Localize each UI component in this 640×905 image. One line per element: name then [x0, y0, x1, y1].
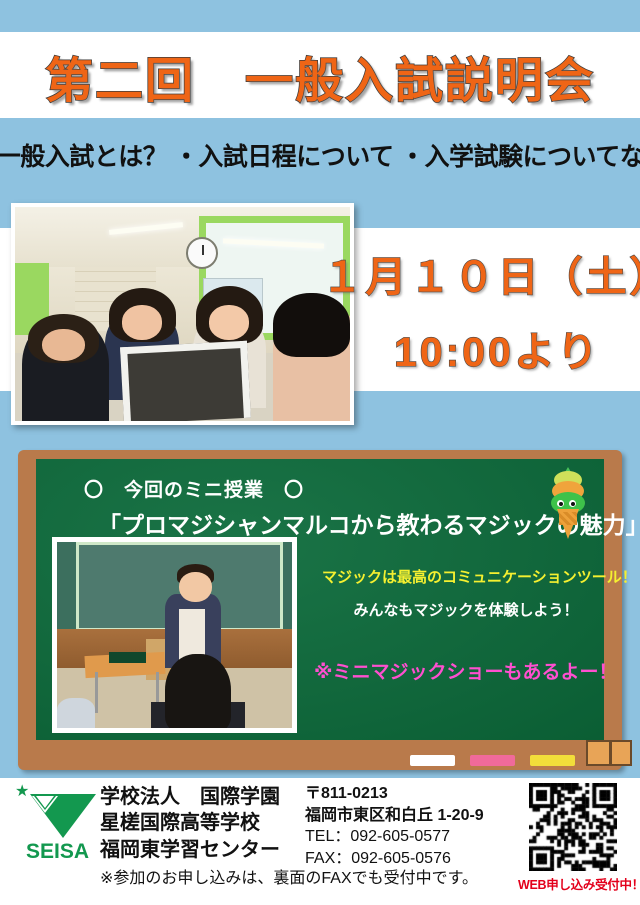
application-note: ※参加のお申し込みは、裏面のFAXでも受付中です。	[100, 864, 478, 888]
chalkboard-message-yellow: マジックは最高のコミュニケーションツール！	[322, 566, 610, 587]
footer: ★ SEISA 学校法人 国際学園 星槎国際高等学校 福岡東学習センター 〒81…	[0, 778, 640, 905]
logo-wordmark: SEISA	[26, 840, 89, 864]
chalkboard-message-pink: ※ミニマジックショーもあるよー！	[314, 657, 610, 684]
seisa-logo: ★ SEISA	[10, 784, 96, 866]
telephone-number: TEL：092-605-0577	[305, 826, 484, 848]
subtitle-bar: ・一般入試とは？ ・入試日程について ・入学試験についてなど	[0, 126, 640, 184]
org-line-3: 福岡東学習センター	[100, 837, 280, 863]
chalkboard-surface: 〇 今回のミニ授業 〇 「プロマジシャンマルコから教わるマジックの魅力」	[36, 459, 604, 740]
event-time: 10:00より	[394, 318, 601, 378]
star-icon: ★	[15, 784, 29, 800]
qr-label: WEB申し込み受付中！	[518, 874, 628, 893]
chalkboard: 〇 今回のミニ授業 〇 「プロマジシャンマルコから教わるマジックの魅力」	[18, 450, 622, 770]
organization-name: 学校法人 国際学園 星槎国際高等学校 福岡東学習センター	[100, 784, 280, 863]
qr-code[interactable]	[529, 783, 617, 871]
seisa-mascot-icon	[546, 467, 590, 539]
street-address: 福岡市東区和白丘 1-20-9	[305, 805, 484, 827]
page-title-text: 第二回 一般入試説明会	[45, 41, 595, 111]
chalk-pink-icon	[470, 755, 515, 766]
contact-info: 〒811-0213 福岡市東区和白丘 1-20-9 TEL：092-605-05…	[305, 783, 484, 869]
page-title: 第二回 一般入試説明会	[0, 34, 640, 118]
org-line-1: 学校法人 国際学園	[100, 784, 280, 810]
hero-photo-students	[11, 203, 354, 425]
postal-code: 〒811-0213	[305, 783, 484, 805]
chalk-white-icon	[410, 755, 455, 766]
chalk-yellow-icon	[530, 755, 575, 766]
eraser-icon	[586, 740, 632, 766]
org-line-2: 星槎国際高等学校	[100, 810, 280, 836]
event-datetime: １月１０日（土） 10:00より	[355, 235, 640, 385]
qr-block[interactable]: WEB申し込み受付中！	[518, 783, 628, 893]
subtitle-text: ・一般入試とは？ ・入試日程について ・入学試験についてなど	[0, 137, 640, 173]
chalk-ledge	[28, 746, 612, 770]
chalkboard-message-white: みんなもマジックを体験しよう！	[322, 599, 610, 620]
event-date: １月１０日（土）	[322, 243, 640, 303]
mini-lesson-heading: 〇 今回のミニ授業 〇	[84, 475, 304, 502]
mini-photo-magic-lesson	[52, 537, 297, 733]
